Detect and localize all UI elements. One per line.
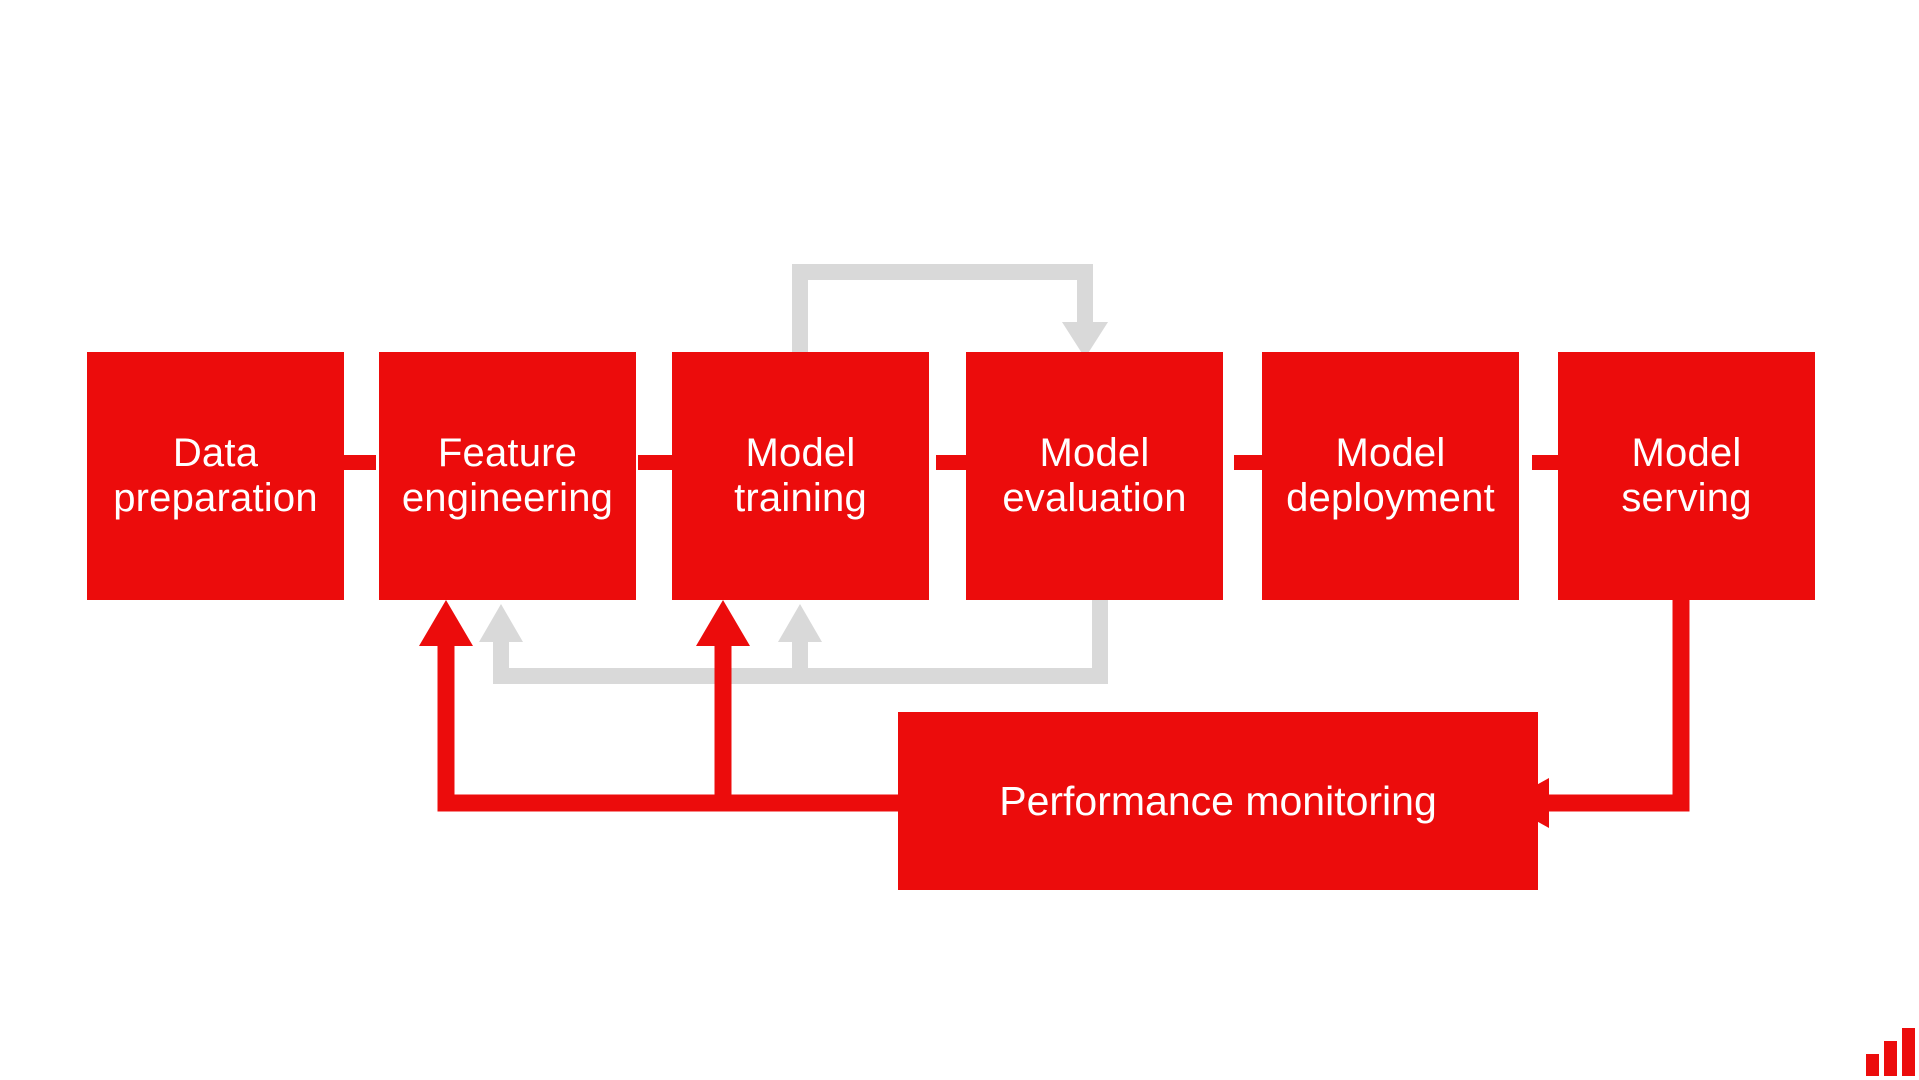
feedback-training-to-evaluation [800,272,1108,358]
diagram-canvas: Data preparation Feature engineering Mod… [0,0,1919,1080]
bar-chart-logo-bar-2 [1884,1041,1897,1076]
feedback-monitoring-to-model-training [696,600,750,803]
stage-label-model-deployment: Model deployment [1280,431,1501,521]
stage-box-model-evaluation[interactable]: Model evaluation [966,352,1223,600]
stage-label-model-training: Model training [728,431,873,521]
stage-label-model-evaluation: Model evaluation [996,431,1192,521]
stage-label-data-preparation: Data preparation [107,431,324,521]
bar-chart-logo-bar-1 [1866,1054,1879,1076]
stage-box-performance-monitoring[interactable]: Performance monitoring [898,712,1538,890]
bar-chart-logo-bar-3 [1902,1028,1915,1076]
stage-box-data-preparation[interactable]: Data preparation [87,352,344,600]
stage-label-performance-monitoring: Performance monitoring [993,778,1443,825]
stage-label-feature-engineering: Feature engineering [396,431,619,521]
stage-box-model-deployment[interactable]: Model deployment [1262,352,1519,600]
connector-feature-engineering-to-model-training [638,455,674,470]
stage-box-model-serving[interactable]: Model serving [1558,352,1815,600]
bar-chart-logo [1862,1028,1919,1076]
connector-data-preparation-to-feature-engineering [340,455,376,470]
stage-box-feature-engineering[interactable]: Feature engineering [379,352,636,600]
feedback-evaluation-to-model-training [778,604,1100,676]
stage-box-model-training[interactable]: Model training [672,352,929,600]
stage-label-model-serving: Model serving [1615,431,1757,521]
